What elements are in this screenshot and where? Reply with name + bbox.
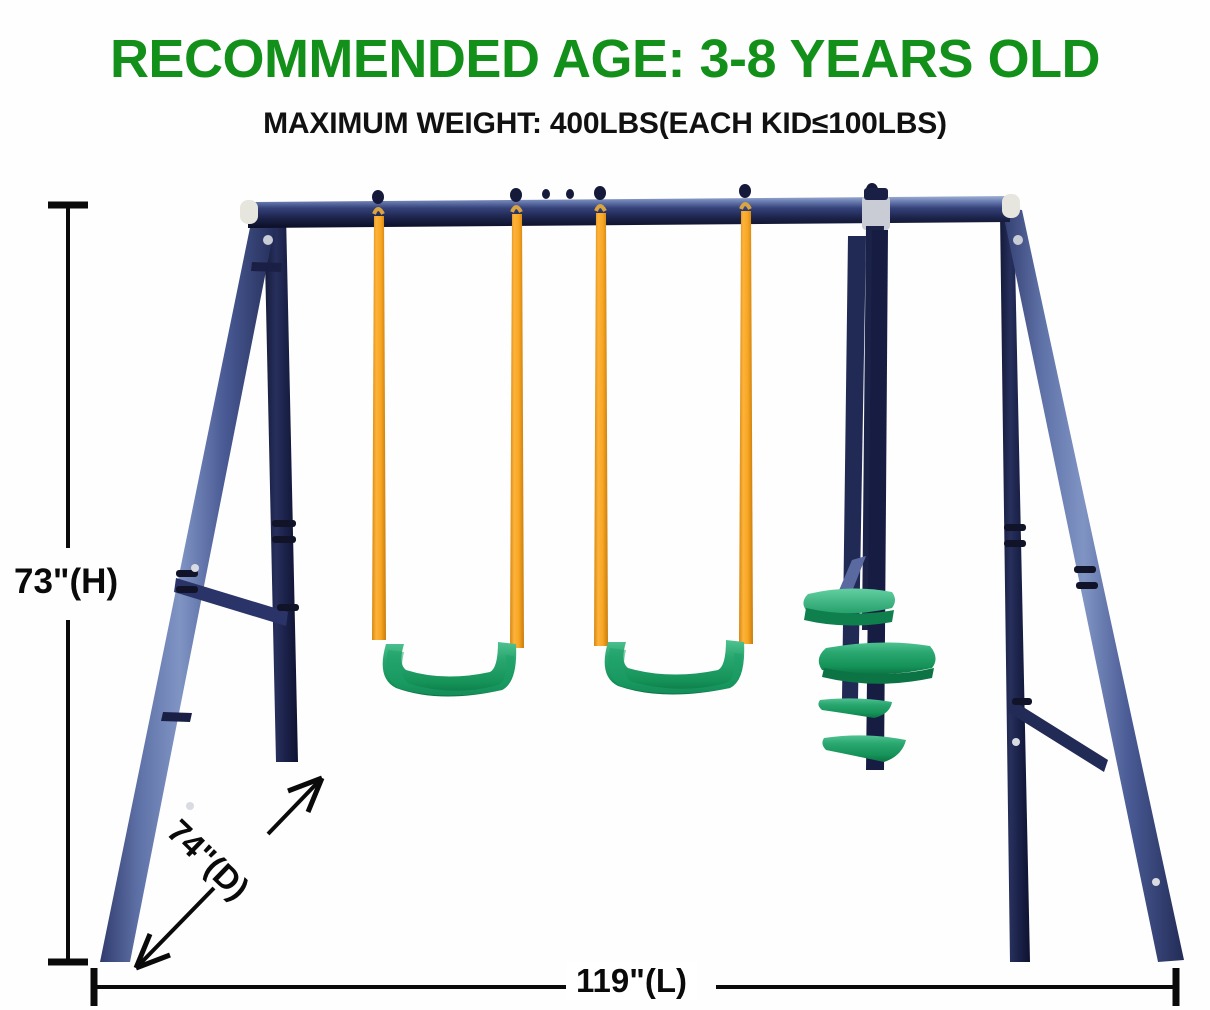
belt-swing-seat-left xyxy=(383,642,517,697)
product-dimension-diagram: RECOMMENDED AGE: 3-8 YEARS OLD MAXIMUM W… xyxy=(0,0,1210,1010)
dimension-label-length: 119"(L) xyxy=(566,962,697,1000)
glider-seat xyxy=(803,588,935,762)
swing-straps xyxy=(372,204,753,648)
dimension-label-height: 73"(H) xyxy=(14,562,118,602)
right-leg-assembly xyxy=(1000,208,1184,962)
top-beam xyxy=(240,183,1020,228)
belt-swing-seat-right xyxy=(605,640,745,695)
